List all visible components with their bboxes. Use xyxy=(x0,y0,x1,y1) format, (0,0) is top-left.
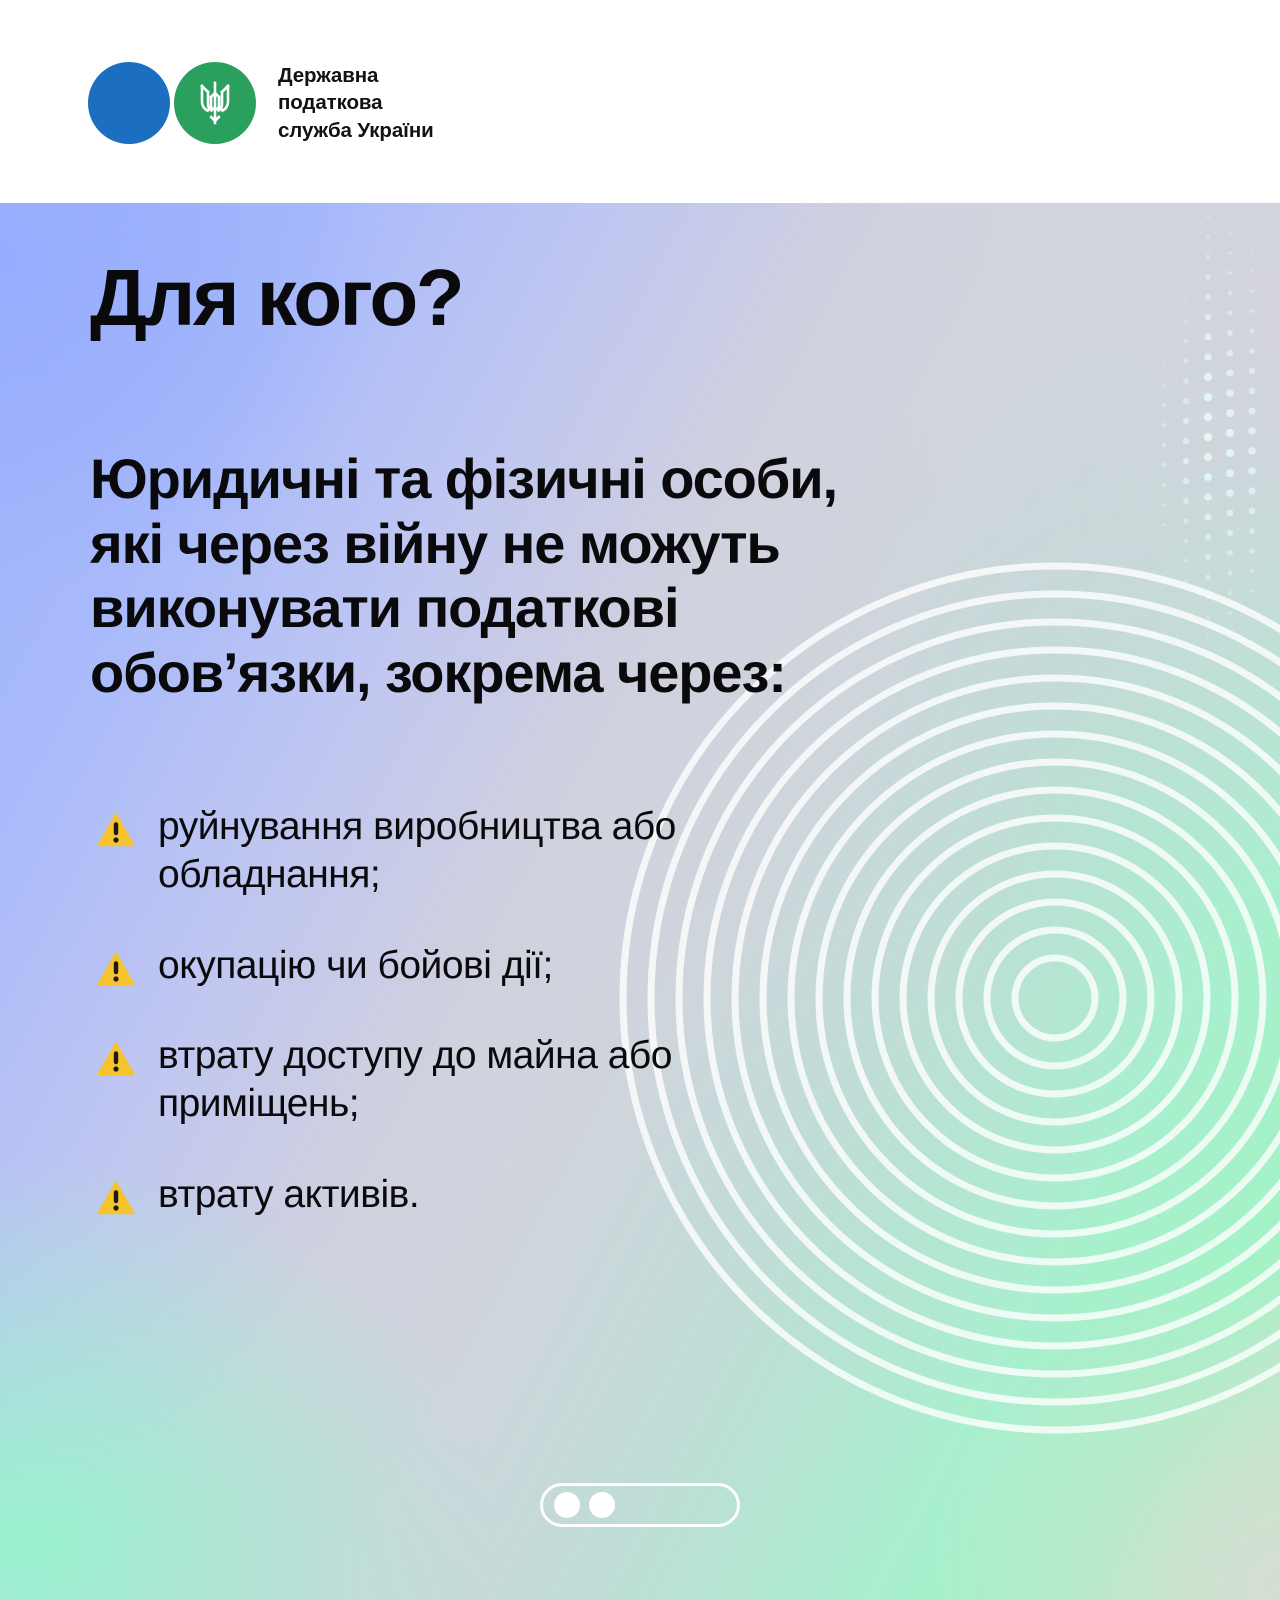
warning-triangle-icon xyxy=(96,809,136,849)
pagination-indicator[interactable] xyxy=(540,1483,740,1527)
blue-circle-icon xyxy=(88,62,170,144)
list-item: окупацію чи бойові дії; xyxy=(96,942,1036,990)
green-circle-icon xyxy=(174,62,256,144)
list-item-label: втрату активів. xyxy=(158,1171,419,1219)
page-title: Для кого? xyxy=(90,258,462,338)
list-item-label: руйнування виробництва або обладнання; xyxy=(158,803,676,900)
warning-triangle-icon xyxy=(96,1038,136,1078)
list-item-label: втрату доступу до майна або приміщень; xyxy=(158,1032,672,1129)
pagination-dot-active[interactable] xyxy=(554,1492,580,1518)
list-item: втрату активів. xyxy=(96,1171,1036,1219)
slide-background: Для кого? Юридичні та фізичні особи, які… xyxy=(0,203,1280,1600)
pagination-dot[interactable] xyxy=(589,1492,615,1518)
ukraine-trident-icon xyxy=(193,77,237,129)
warning-triangle-icon xyxy=(96,948,136,988)
warning-triangle-icon xyxy=(96,1177,136,1217)
logo-marks xyxy=(88,62,256,144)
list-item: втрату доступу до майна або приміщень; xyxy=(96,1032,1036,1129)
list-item-label: окупацію чи бойові дії; xyxy=(158,942,553,990)
list-item: руйнування виробництва або обладнання; xyxy=(96,803,1036,900)
slide-content: Для кого? Юридичні та фізичні особи, які… xyxy=(0,203,1280,1600)
brand-logo[interactable]: Державна податкова служба України xyxy=(88,62,434,144)
brand-name: Державна податкова служба України xyxy=(278,62,434,144)
infographic-slide: Для кого? Юридичні та фізичні особи, які… xyxy=(0,0,1280,1600)
header-band: Державна податкова служба України xyxy=(0,0,1280,203)
reasons-list: руйнування виробництва або обладнання; о… xyxy=(96,803,1036,1219)
slide-lede: Юридичні та фізичні особи, які через вій… xyxy=(90,447,1040,706)
